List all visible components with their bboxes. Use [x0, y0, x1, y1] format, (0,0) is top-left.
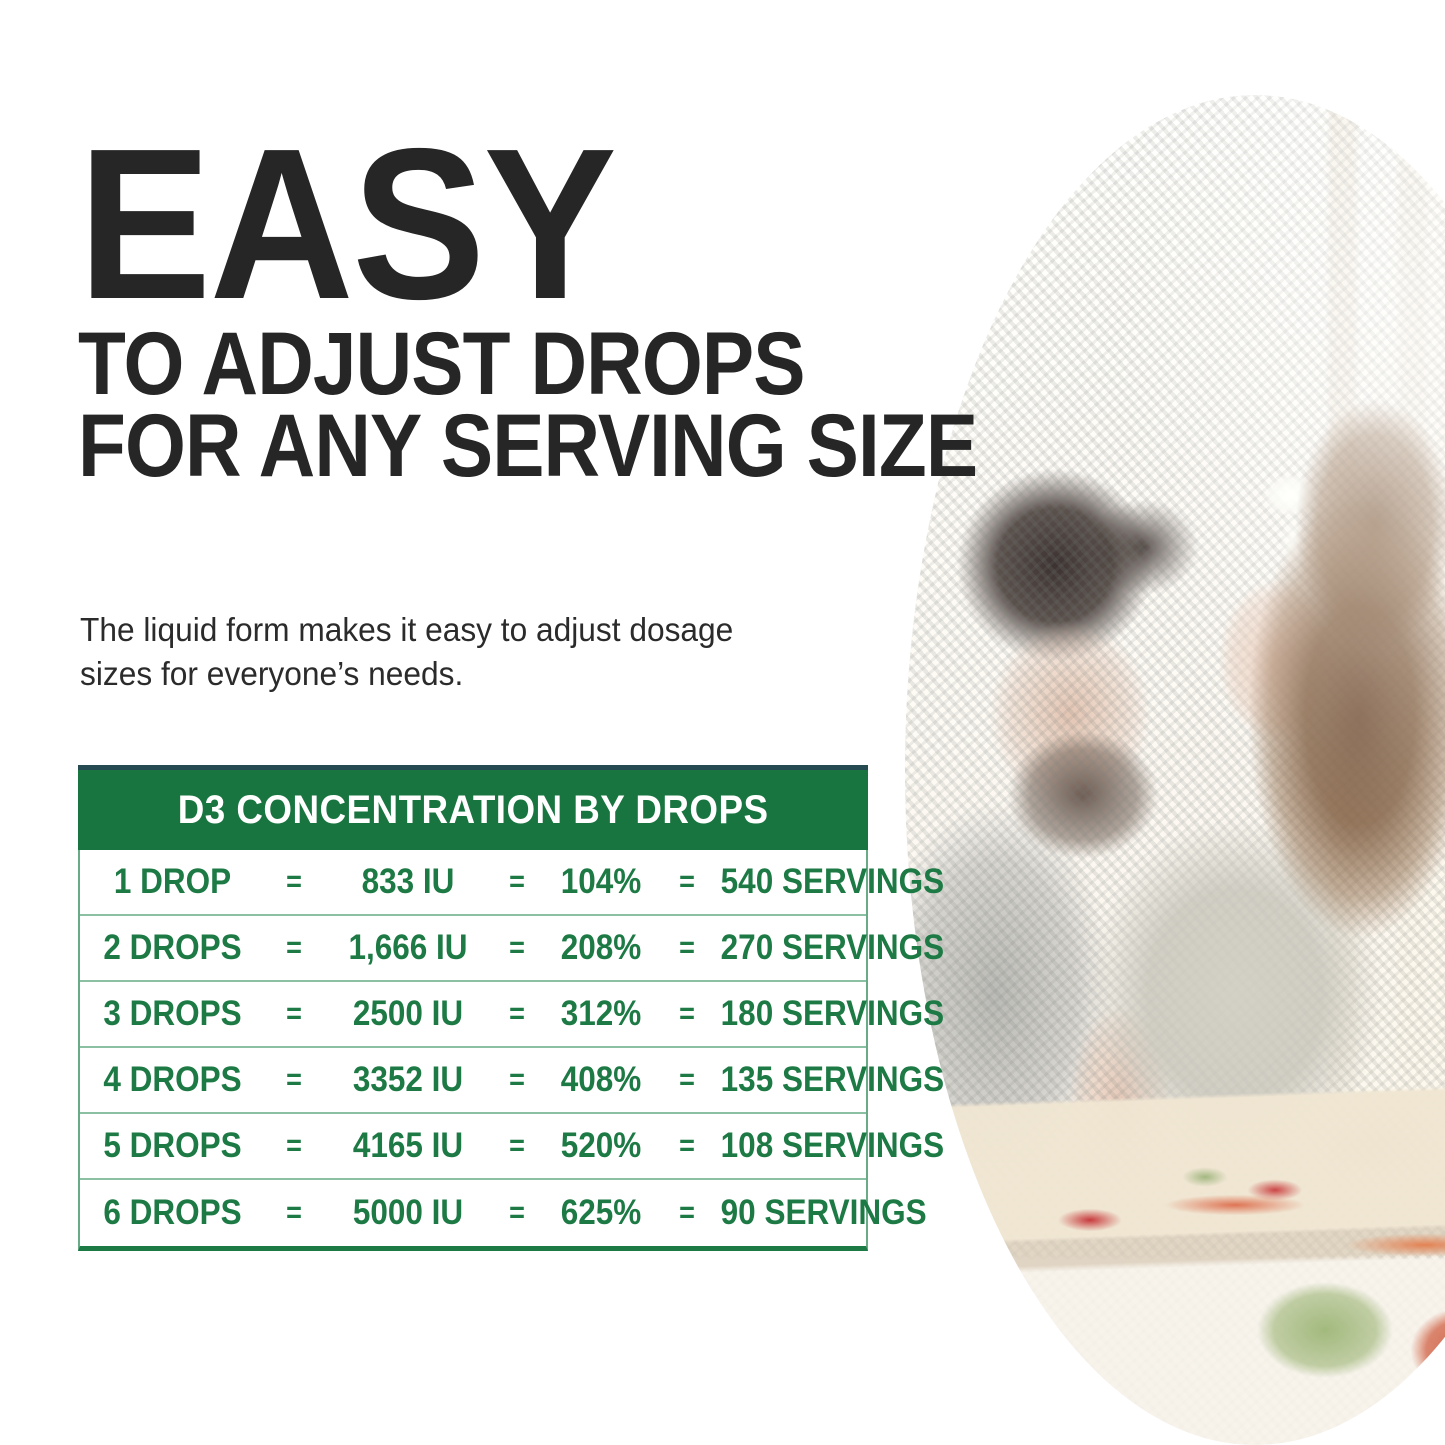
- equals-sign: =: [495, 1196, 538, 1230]
- equals-sign: =: [495, 1129, 538, 1163]
- row-iu-value: 2500 IU: [332, 994, 485, 1034]
- table-row: 4 DROPS=3352 IU=408%=135 SERVINGS: [80, 1048, 866, 1114]
- row-iu-value: 833 IU: [332, 862, 485, 902]
- equals-sign: =: [495, 1063, 538, 1097]
- table-header: D3 CONCENTRATION BY DROPS: [78, 770, 868, 850]
- equals-sign: =: [664, 1063, 711, 1097]
- row-iu-value: 4165 IU: [332, 1126, 485, 1166]
- equals-sign: =: [268, 1063, 320, 1097]
- equals-sign: =: [495, 997, 538, 1031]
- photo-image: [905, 95, 1445, 1445]
- equals-sign: =: [664, 931, 711, 965]
- row-servings-value: 135 SERVINGS: [721, 1060, 859, 1100]
- table-row: 1 DROP=833 IU=104%=540 SERVINGS: [80, 850, 866, 916]
- table-row: 6 DROPS=5000 IU=625%=90 SERVINGS: [80, 1180, 866, 1246]
- equals-sign: =: [268, 931, 320, 965]
- headline-line-2: TO ADJUST DROPS: [78, 324, 835, 402]
- row-servings-value: 180 SERVINGS: [721, 994, 859, 1034]
- table-row: 2 DROPS=1,666 IU=208%=270 SERVINGS: [80, 916, 866, 982]
- row-drops-label: 3 DROPS: [89, 994, 256, 1034]
- equals-sign: =: [664, 1129, 711, 1163]
- table-title: D3 CONCENTRATION BY DROPS: [178, 788, 769, 833]
- lifestyle-photo: [905, 95, 1445, 1445]
- equals-sign: =: [495, 865, 538, 899]
- row-drops-label: 1 DROP: [89, 862, 256, 902]
- equals-sign: =: [268, 997, 320, 1031]
- row-drops-label: 4 DROPS: [89, 1060, 256, 1100]
- table-row: 3 DROPS=2500 IU=312%=180 SERVINGS: [80, 982, 866, 1048]
- table-body: 1 DROP=833 IU=104%=540 SERVINGS2 DROPS=1…: [78, 850, 868, 1251]
- row-servings-value: 108 SERVINGS: [721, 1126, 859, 1166]
- table-row: 5 DROPS=4165 IU=520%=108 SERVINGS: [80, 1114, 866, 1180]
- infographic-page: EASY TO ADJUST DROPS FOR ANY SERVING SIZ…: [0, 0, 1445, 1445]
- row-servings-value: 270 SERVINGS: [721, 928, 859, 968]
- row-iu-value: 5000 IU: [332, 1193, 485, 1233]
- headline-line-1: EASY: [78, 138, 878, 310]
- equals-sign: =: [664, 865, 711, 899]
- row-percent-value: 312%: [547, 994, 655, 1034]
- equals-sign: =: [268, 865, 320, 899]
- row-percent-value: 625%: [547, 1193, 655, 1233]
- row-percent-value: 520%: [547, 1126, 655, 1166]
- equals-sign: =: [268, 1196, 320, 1230]
- concentration-table: D3 CONCENTRATION BY DROPS 1 DROP=833 IU=…: [78, 765, 868, 1251]
- equals-sign: =: [664, 1196, 711, 1230]
- row-drops-label: 6 DROPS: [89, 1193, 256, 1233]
- row-percent-value: 208%: [547, 928, 655, 968]
- headline-line-3: FOR ANY SERVING SIZE: [78, 406, 835, 484]
- row-servings-value: 540 SERVINGS: [721, 862, 859, 902]
- equals-sign: =: [664, 997, 711, 1031]
- row-iu-value: 3352 IU: [332, 1060, 485, 1100]
- headline-block: EASY TO ADJUST DROPS FOR ANY SERVING SIZ…: [78, 138, 938, 485]
- row-servings-value: 90 SERVINGS: [721, 1193, 859, 1233]
- row-percent-value: 408%: [547, 1060, 655, 1100]
- equals-sign: =: [268, 1129, 320, 1163]
- subtitle-text: The liquid form makes it easy to adjust …: [80, 608, 752, 695]
- row-iu-value: 1,666 IU: [332, 928, 485, 968]
- row-percent-value: 104%: [547, 862, 655, 902]
- row-drops-label: 5 DROPS: [89, 1126, 256, 1166]
- row-drops-label: 2 DROPS: [89, 928, 256, 968]
- equals-sign: =: [495, 931, 538, 965]
